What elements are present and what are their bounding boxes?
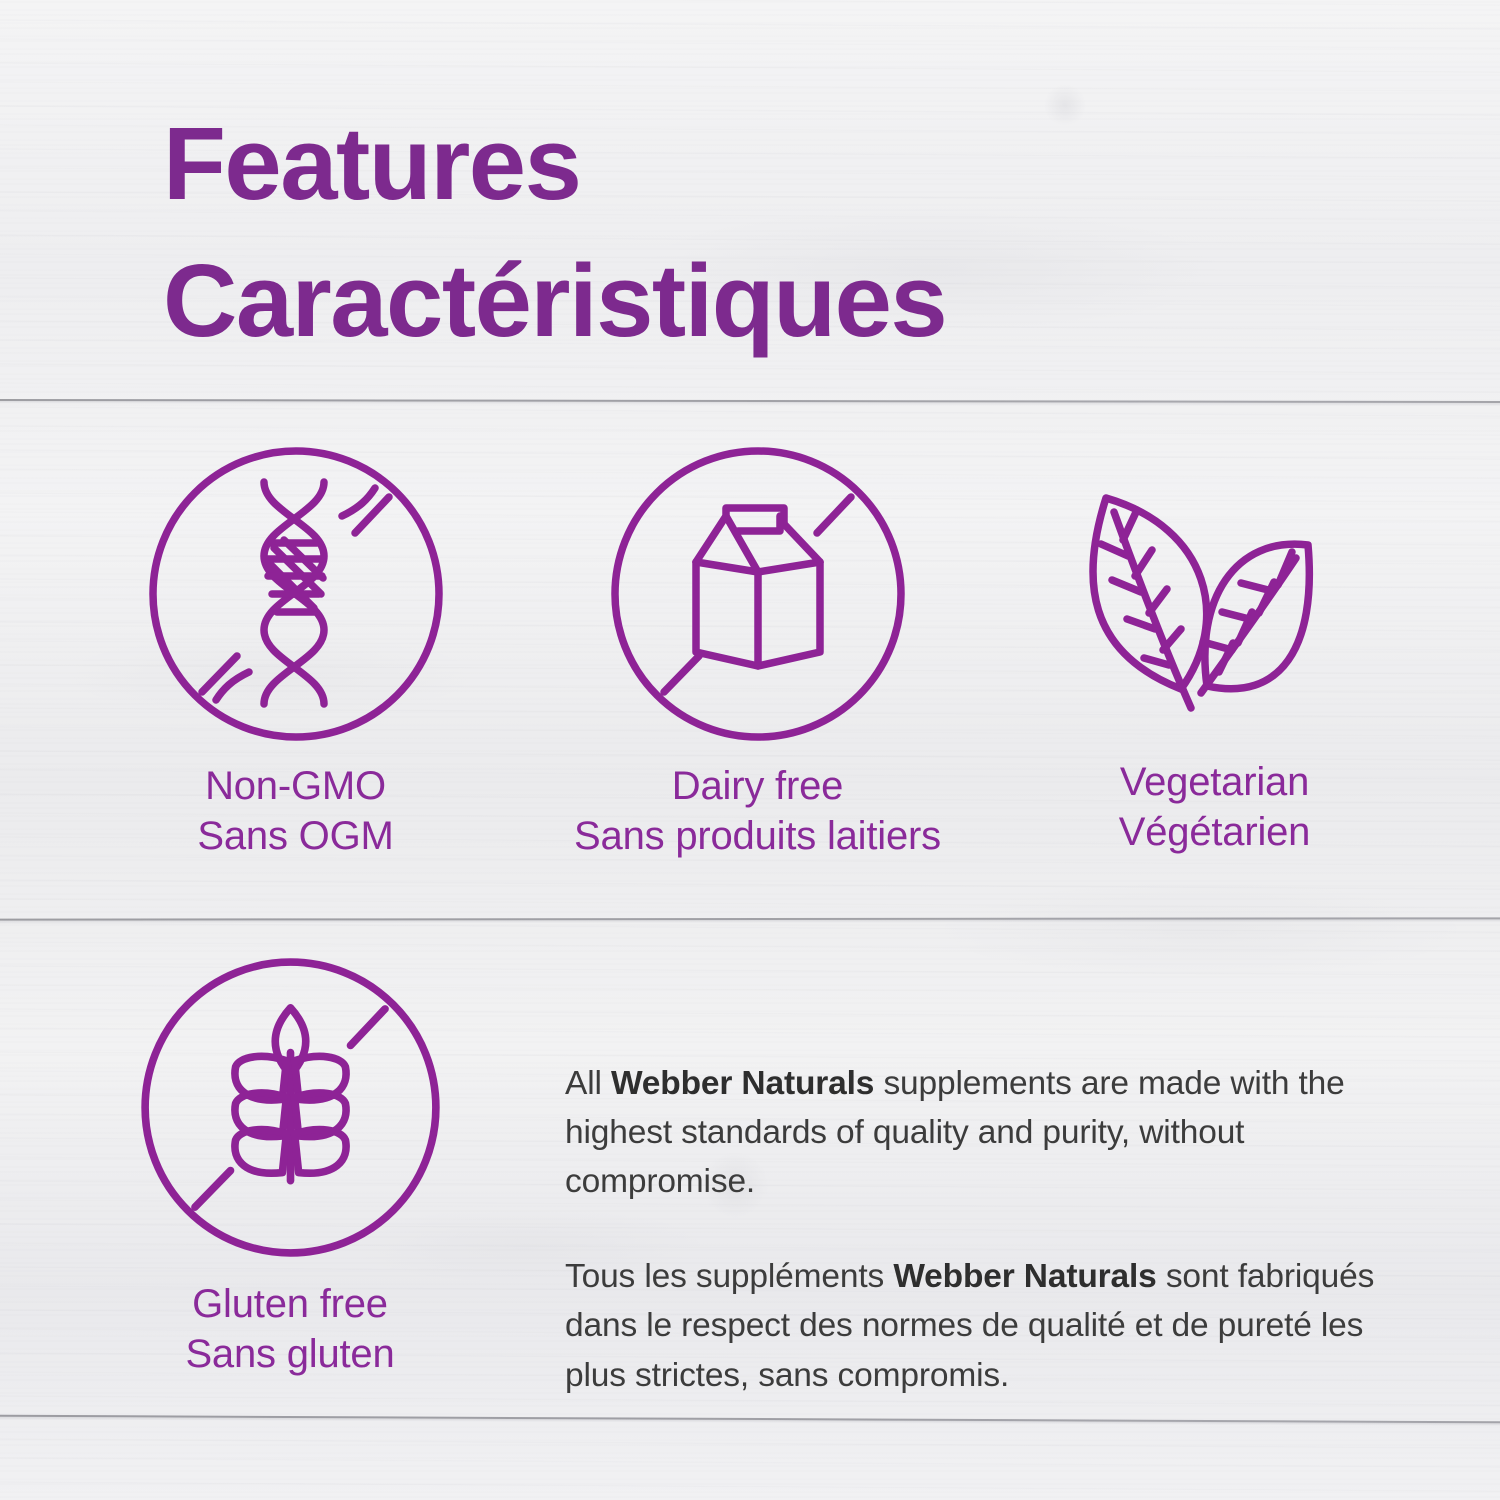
feature-non-gmo-label-fr: Sans OGM	[103, 812, 488, 862]
feature-vegetarian: Vegetarian Végétarien	[1022, 440, 1407, 857]
no-gmo-dna-icon	[103, 440, 488, 744]
leaves-icon	[1022, 440, 1407, 740]
description-paragraph-en: All Webber Naturals supplements are made…	[565, 1059, 1375, 1207]
page-title: Features Caractéristiques	[163, 96, 1363, 370]
feature-gluten-free-caption: Gluten free Sans gluten	[90, 1280, 490, 1379]
page-title-en: Features	[163, 96, 1363, 233]
desc-en-before: All	[565, 1065, 611, 1102]
feature-non-gmo-label-en: Non-GMO	[103, 762, 488, 812]
feature-non-gmo: Non-GMO Sans OGM	[103, 440, 488, 861]
desc-fr-before: Tous les suppléments	[565, 1258, 893, 1295]
feature-bottom-row: Gluten free Sans gluten All Webber Natur…	[0, 955, 1500, 1425]
feature-dairy-free-label-en: Dairy free	[565, 762, 950, 812]
no-dairy-milk-carton-icon	[565, 440, 950, 744]
feature-panel: Features Caractéristiques	[0, 0, 1500, 1500]
description-paragraph-fr: Tous les suppléments Webber Naturals son…	[565, 1252, 1375, 1400]
no-gluten-wheat-icon	[90, 955, 490, 1260]
feature-non-gmo-caption: Non-GMO Sans OGM	[103, 762, 488, 861]
feature-dairy-free-caption: Dairy free Sans produits laitiers	[565, 762, 950, 861]
page-title-fr: Caractéristiques	[163, 233, 1363, 370]
desc-en-brand: Webber Naturals	[611, 1065, 874, 1102]
feature-gluten-free: Gluten free Sans gluten	[90, 955, 490, 1379]
feature-icon-row: Non-GMO Sans OGM	[0, 440, 1500, 870]
description-block: All Webber Naturals supplements are made…	[565, 1025, 1375, 1433]
feature-vegetarian-label-en: Vegetarian	[1022, 758, 1407, 808]
feature-gluten-free-label-en: Gluten free	[90, 1280, 490, 1330]
feature-vegetarian-caption: Vegetarian Végétarien	[1022, 758, 1407, 857]
feature-vegetarian-label-fr: Végétarien	[1022, 808, 1407, 858]
feature-dairy-free: Dairy free Sans produits laitiers	[565, 440, 950, 861]
desc-fr-brand: Webber Naturals	[893, 1258, 1156, 1295]
feature-gluten-free-label-fr: Sans gluten	[90, 1330, 490, 1380]
feature-dairy-free-label-fr: Sans produits laitiers	[565, 812, 950, 862]
